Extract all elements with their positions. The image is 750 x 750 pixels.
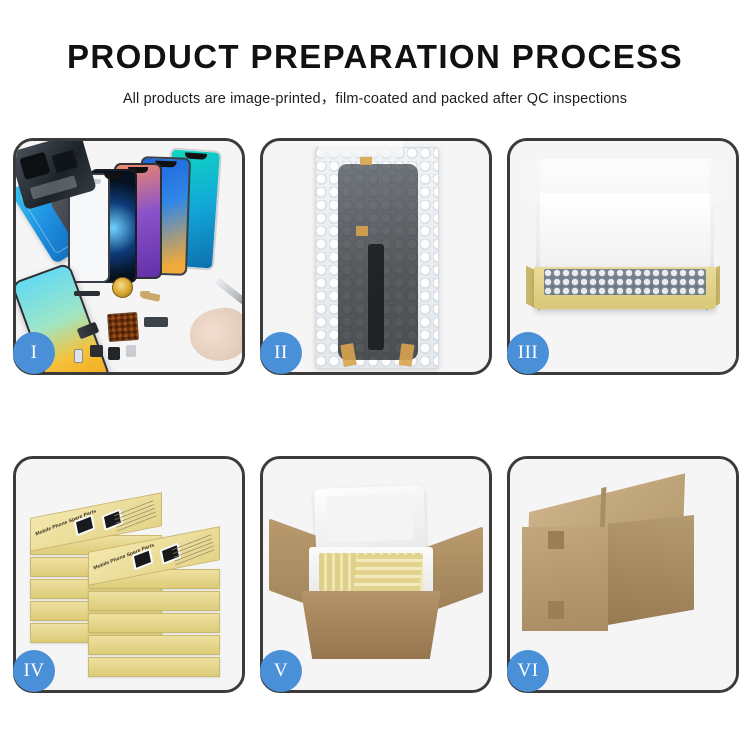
carton-side-icon (608, 515, 694, 625)
stacked-box (88, 635, 220, 655)
carton-body-icon (301, 591, 441, 659)
bubble-wrap-layer-icon (544, 269, 706, 295)
wrapped-flex-cable-icon (368, 244, 384, 350)
panel-image-5 (263, 459, 489, 690)
page-subtitle: All products are image-printed，film-coat… (0, 87, 750, 108)
panel-image-4: Mobile Phone Spare Parts Mobile Phone Sp… (16, 459, 242, 690)
header: PRODUCT PREPARATION PROCESS All products… (0, 0, 750, 108)
step-badge-3: III (507, 332, 549, 374)
process-step-6[interactable]: VI (507, 456, 739, 693)
phone-notch-icon (104, 173, 123, 179)
tape-icon (356, 226, 368, 236)
tape-icon (360, 156, 372, 165)
page-title: PRODUCT PREPARATION PROCESS (0, 40, 750, 75)
box-spec-text-icon (113, 497, 156, 531)
component-icon (140, 291, 150, 297)
component-icon (126, 345, 136, 357)
bubble-wrap-bag-icon (315, 147, 439, 369)
process-step-4[interactable]: Mobile Phone Spare Parts Mobile Phone Sp… (13, 456, 245, 693)
flex-cable-icon (144, 317, 168, 327)
step-badge-4: IV (13, 650, 55, 692)
flex-cable-icon (74, 291, 100, 296)
stacked-box (88, 657, 220, 677)
screwdriver-icon (215, 278, 242, 312)
foam-sheet-icon (540, 193, 710, 271)
speaker-coil-icon (112, 277, 133, 298)
packed-yellow-boxes-icon (353, 555, 423, 591)
step-badge-2: II (260, 332, 302, 374)
panel-image-3 (510, 141, 736, 372)
step-badge-5: V (260, 650, 302, 692)
stacked-box (88, 591, 220, 611)
tape-icon (399, 343, 415, 367)
panel-image-2 (263, 141, 489, 372)
box-spec-text-icon (171, 531, 214, 565)
step-badge-6: VI (507, 650, 549, 692)
component-icon (74, 349, 83, 363)
component-icon (90, 345, 103, 357)
process-step-grid: I II (13, 138, 739, 693)
panel-image-1 (16, 141, 242, 372)
step-badge-1: I (13, 332, 55, 374)
stacked-box (88, 613, 220, 633)
process-step-1[interactable]: I (13, 138, 245, 375)
carton-front-icon (522, 527, 608, 631)
carton-tape-icon (548, 531, 564, 549)
hand-icon (185, 304, 242, 367)
box-stack-icon: Mobile Phone Spare Parts Mobile Phone Sp… (24, 481, 236, 677)
chip-grid-icon (107, 312, 139, 342)
process-step-5[interactable]: V (260, 456, 492, 693)
bag-seal-icon (319, 141, 403, 157)
panel-image-6 (510, 459, 736, 690)
carton-tape-icon (548, 601, 564, 619)
process-step-3[interactable]: III (507, 138, 739, 375)
component-icon (108, 347, 120, 360)
product-preparation-infographic: PRODUCT PREPARATION PROCESS All products… (0, 0, 750, 750)
process-step-2[interactable]: II (260, 138, 492, 375)
foam-lid-icon (314, 485, 426, 555)
